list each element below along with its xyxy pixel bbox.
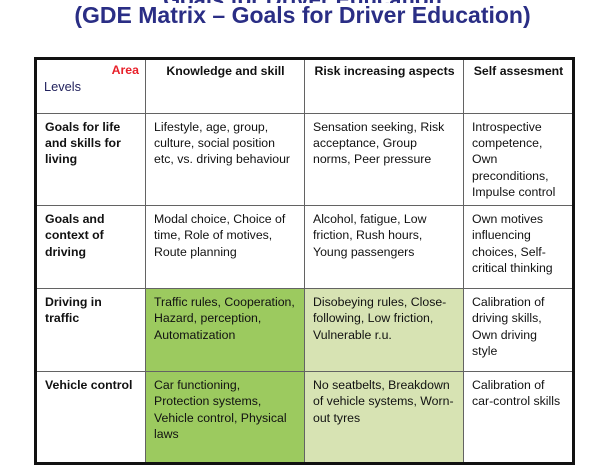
gde-matrix-container: Area Levels Knowledge and skill Risk inc…	[34, 57, 572, 465]
header-corner-cell: Area Levels	[36, 59, 146, 114]
cell-knowledge: Car functioning, Protection systems, Veh…	[146, 372, 305, 464]
cell-knowledge: Lifestyle, age, group, culture, social p…	[146, 114, 305, 206]
table-row: Goals for life and skills for living Lif…	[36, 114, 574, 206]
table-header-row: Area Levels Knowledge and skill Risk inc…	[36, 59, 574, 114]
cell-self-assessment: Calibration of driving skills, Own drivi…	[464, 289, 574, 372]
column-header-knowledge: Knowledge and skill	[146, 59, 305, 114]
table-row: Vehicle control Car functioning, Protect…	[36, 372, 574, 464]
cell-self-assessment: Own motives influencing choices, Self-cr…	[464, 206, 574, 289]
cell-self-assessment: Introspective competence, Own preconditi…	[464, 114, 574, 206]
table-row: Driving in traffic Traffic rules, Cooper…	[36, 289, 574, 372]
cell-knowledge: Modal choice, Choice of time, Role of mo…	[146, 206, 305, 289]
cell-risk: Alcohol, fatigue, Low friction, Rush hou…	[305, 206, 464, 289]
row-level-label: Goals and context of driving	[36, 206, 146, 289]
row-level-label: Goals for life and skills for living	[36, 114, 146, 206]
row-level-label: Driving in traffic	[36, 289, 146, 372]
page-title: (GDE Matrix – Goals for Driver Education…	[0, 2, 605, 29]
column-header-self-assessment: Self assesment	[464, 59, 574, 114]
header-levels-label: Levels	[44, 79, 139, 95]
table-row: Goals and context of driving Modal choic…	[36, 206, 574, 289]
row-level-label: Vehicle control	[36, 372, 146, 464]
cell-self-assessment: Calibration of car-control skills	[464, 372, 574, 464]
cell-risk: No seatbelts, Breakdown of vehicle syste…	[305, 372, 464, 464]
cell-risk: Sensation seeking, Risk acceptance, Grou…	[305, 114, 464, 206]
column-header-risk: Risk increasing aspects	[305, 59, 464, 114]
header-area-label: Area	[44, 63, 139, 78]
cell-knowledge: Traffic rules, Cooperation, Hazard, perc…	[146, 289, 305, 372]
gde-matrix-table: Area Levels Knowledge and skill Risk inc…	[34, 57, 575, 465]
cell-risk: Disobeying rules, Close-following, Low f…	[305, 289, 464, 372]
